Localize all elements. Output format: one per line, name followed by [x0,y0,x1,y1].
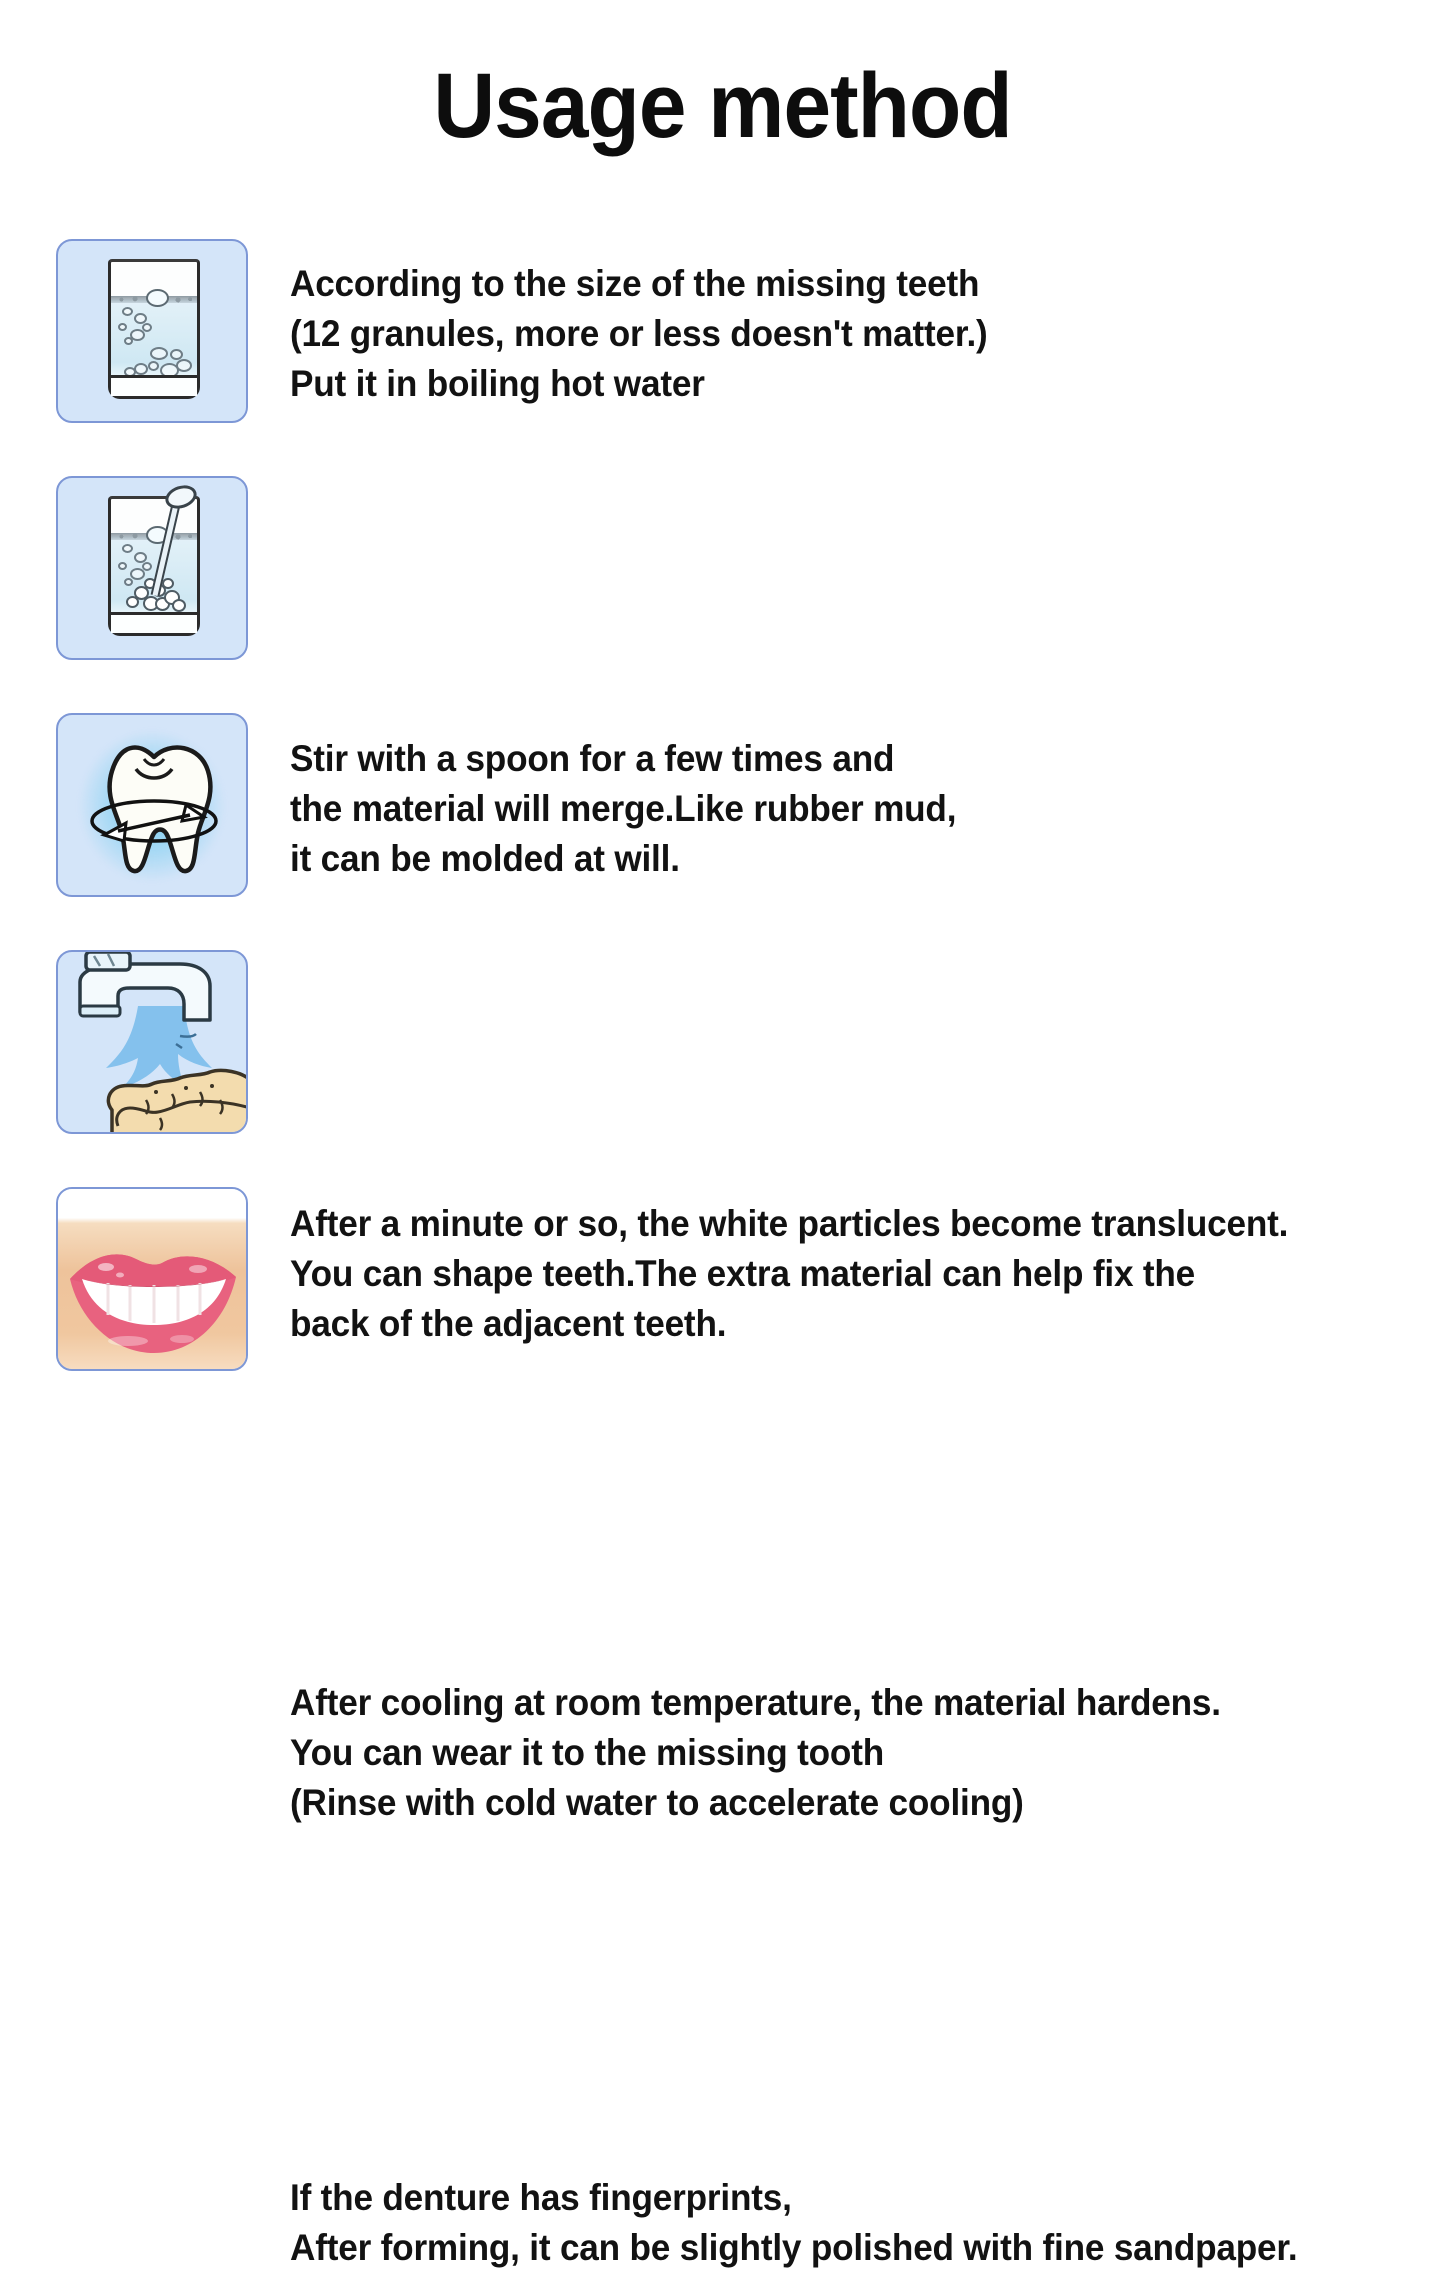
page-title: Usage method [51,58,1395,154]
spoon-icon [153,486,193,611]
step-line: (12 granules, more or less doesn't matte… [290,309,1364,359]
glass-base [111,612,197,633]
lips-and-teeth-svg [58,1215,248,1371]
spoon-handle [151,497,182,596]
step-text: After cooling at room temperature, the m… [290,1678,1364,1828]
glass-of-water-icon [56,239,248,423]
step-line: After cooling at room temperature, the m… [290,1678,1364,1728]
tooth-shape-svg [74,729,234,889]
step-line: According to the size of the missing tee… [290,259,1364,309]
list-item: Stir with a spoon for a few times and th… [0,462,1445,699]
bubble-group [112,303,196,381]
step-line: Put it in boiling hot water [290,359,1364,409]
tooth-illustration [58,715,246,895]
list-item: After cooling at room temperature, the m… [0,936,1445,1173]
glass-with-spoon-stirring-icon [56,476,248,660]
faucet-and-hands-svg [60,950,248,1134]
mouth-illustration [58,1189,246,1369]
usage-steps-list: According to the size of the missing tee… [0,225,1445,1410]
water-glass-shape [108,259,200,399]
step-text: According to the size of the missing tee… [290,259,1364,409]
faucet-rinsing-hands-icon [56,950,248,1134]
list-item: After a minute or so, the white particle… [0,699,1445,936]
water-glass-shape [108,496,200,636]
smiling-mouth-with-teeth-icon [56,1187,248,1371]
step-line: If the denture has fingerprints, [290,2173,1364,2223]
step-line: You can wear it to the missing tooth [290,1728,1364,1778]
list-item: If the denture has fingerprints, After f… [0,1173,1445,1410]
step-text: If the denture has fingerprints, After f… [290,2173,1364,2273]
step-line: After forming, it can be slightly polish… [290,2223,1364,2273]
list-item: According to the size of the missing tee… [0,225,1445,462]
step-line: (Rinse with cold water to accelerate coo… [290,1778,1364,1828]
glass-base [111,375,197,396]
tooth-with-rotating-arrows-icon [56,713,248,897]
